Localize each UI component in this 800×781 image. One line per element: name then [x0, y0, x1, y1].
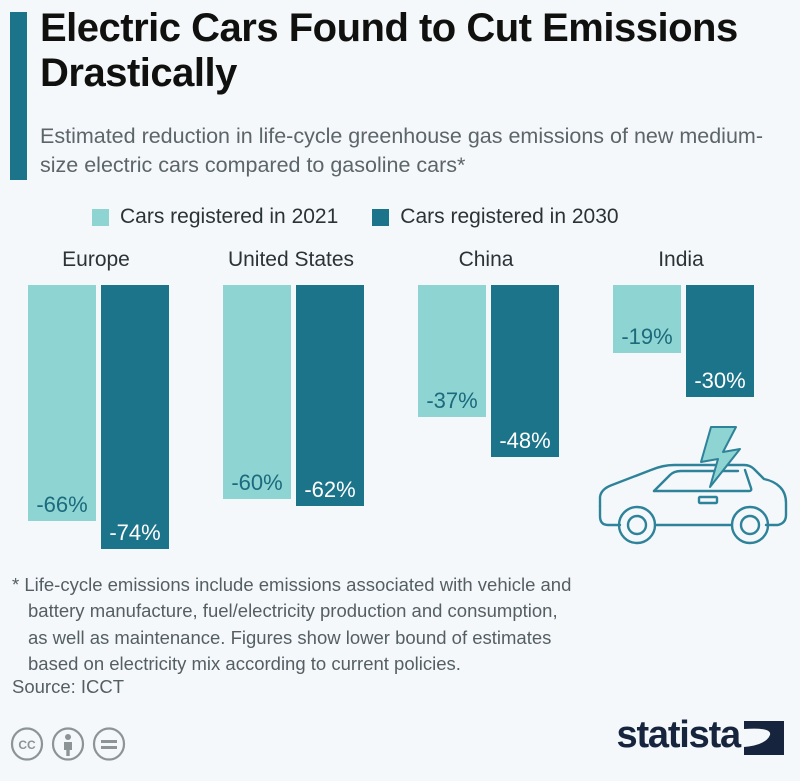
bar-value-united-states-2021: -60% — [231, 472, 282, 494]
bar-europe-2030: -74% — [101, 285, 169, 549]
bar-value-china-2030: -48% — [499, 430, 550, 452]
chart-legend: Cars registered in 2021 Cars registered … — [92, 205, 619, 229]
footnote: * Life-cycle emissions include emissions… — [12, 572, 702, 677]
statista-wordmark: statista — [617, 716, 740, 754]
page-title: Electric Cars Found to Cut Emissions Dra… — [40, 6, 780, 96]
svg-text:CC: CC — [18, 738, 36, 752]
bar-india-2030: -30% — [686, 285, 754, 397]
bar-pair-united-states: -60% -62% — [223, 285, 367, 545]
cc-icon[interactable]: CC — [10, 727, 44, 761]
bar-india-2021: -19% — [613, 285, 681, 353]
page-subtitle: Estimated reduction in life-cycle greenh… — [40, 122, 795, 179]
legend-item-2030: Cars registered in 2030 — [372, 205, 618, 229]
bar-china-2021: -37% — [418, 285, 486, 417]
footnote-line-3: as well as maintenance. Figures show low… — [12, 625, 702, 651]
source-label: Source: ICCT — [12, 676, 124, 698]
legend-label-2030: Cars registered in 2030 — [400, 205, 618, 229]
legend-swatch-2021 — [92, 209, 109, 226]
bar-value-india-2021: -19% — [621, 326, 672, 348]
legend-item-2021: Cars registered in 2021 — [92, 205, 338, 229]
cc-by-person-icon[interactable] — [51, 727, 85, 761]
bar-pair-china: -37% -48% — [418, 285, 562, 545]
bar-value-china-2021: -37% — [426, 390, 477, 412]
lightning-bolt-icon — [701, 427, 740, 487]
statista-infographic: Electric Cars Found to Cut Emissions Dra… — [0, 0, 800, 781]
bar-united-states-2021: -60% — [223, 285, 291, 499]
category-label-china: China — [410, 248, 562, 272]
bar-value-united-states-2030: -62% — [304, 479, 355, 501]
category-label-europe: Europe — [20, 248, 172, 272]
cc-nd-equals-icon[interactable] — [92, 727, 126, 761]
bar-value-europe-2030: -74% — [109, 522, 160, 544]
category-label-united-states: United States — [215, 248, 367, 272]
bar-value-india-2030: -30% — [694, 370, 745, 392]
bar-china-2030: -48% — [491, 285, 559, 457]
bar-value-europe-2021: -66% — [36, 494, 87, 516]
bar-united-states-2030: -62% — [296, 285, 364, 506]
statista-logo[interactable]: statista — [617, 715, 784, 755]
footnote-line-2: battery manufacture, fuel/electricity pr… — [12, 598, 702, 624]
electric-car-illustration — [588, 415, 793, 560]
creative-commons-icons[interactable]: CC — [10, 727, 126, 761]
category-label-india: India — [605, 248, 757, 272]
footnote-line-4: based on electricity mix according to cu… — [12, 651, 702, 677]
footnote-line-1: * Life-cycle emissions include emissions… — [12, 572, 702, 598]
legend-label-2021: Cars registered in 2021 — [120, 205, 338, 229]
title-accent-bar — [10, 12, 27, 180]
bar-pair-europe: -66% -74% — [28, 285, 172, 545]
statista-mark-icon — [744, 715, 784, 755]
legend-swatch-2030 — [372, 209, 389, 226]
bar-europe-2021: -66% — [28, 285, 96, 521]
